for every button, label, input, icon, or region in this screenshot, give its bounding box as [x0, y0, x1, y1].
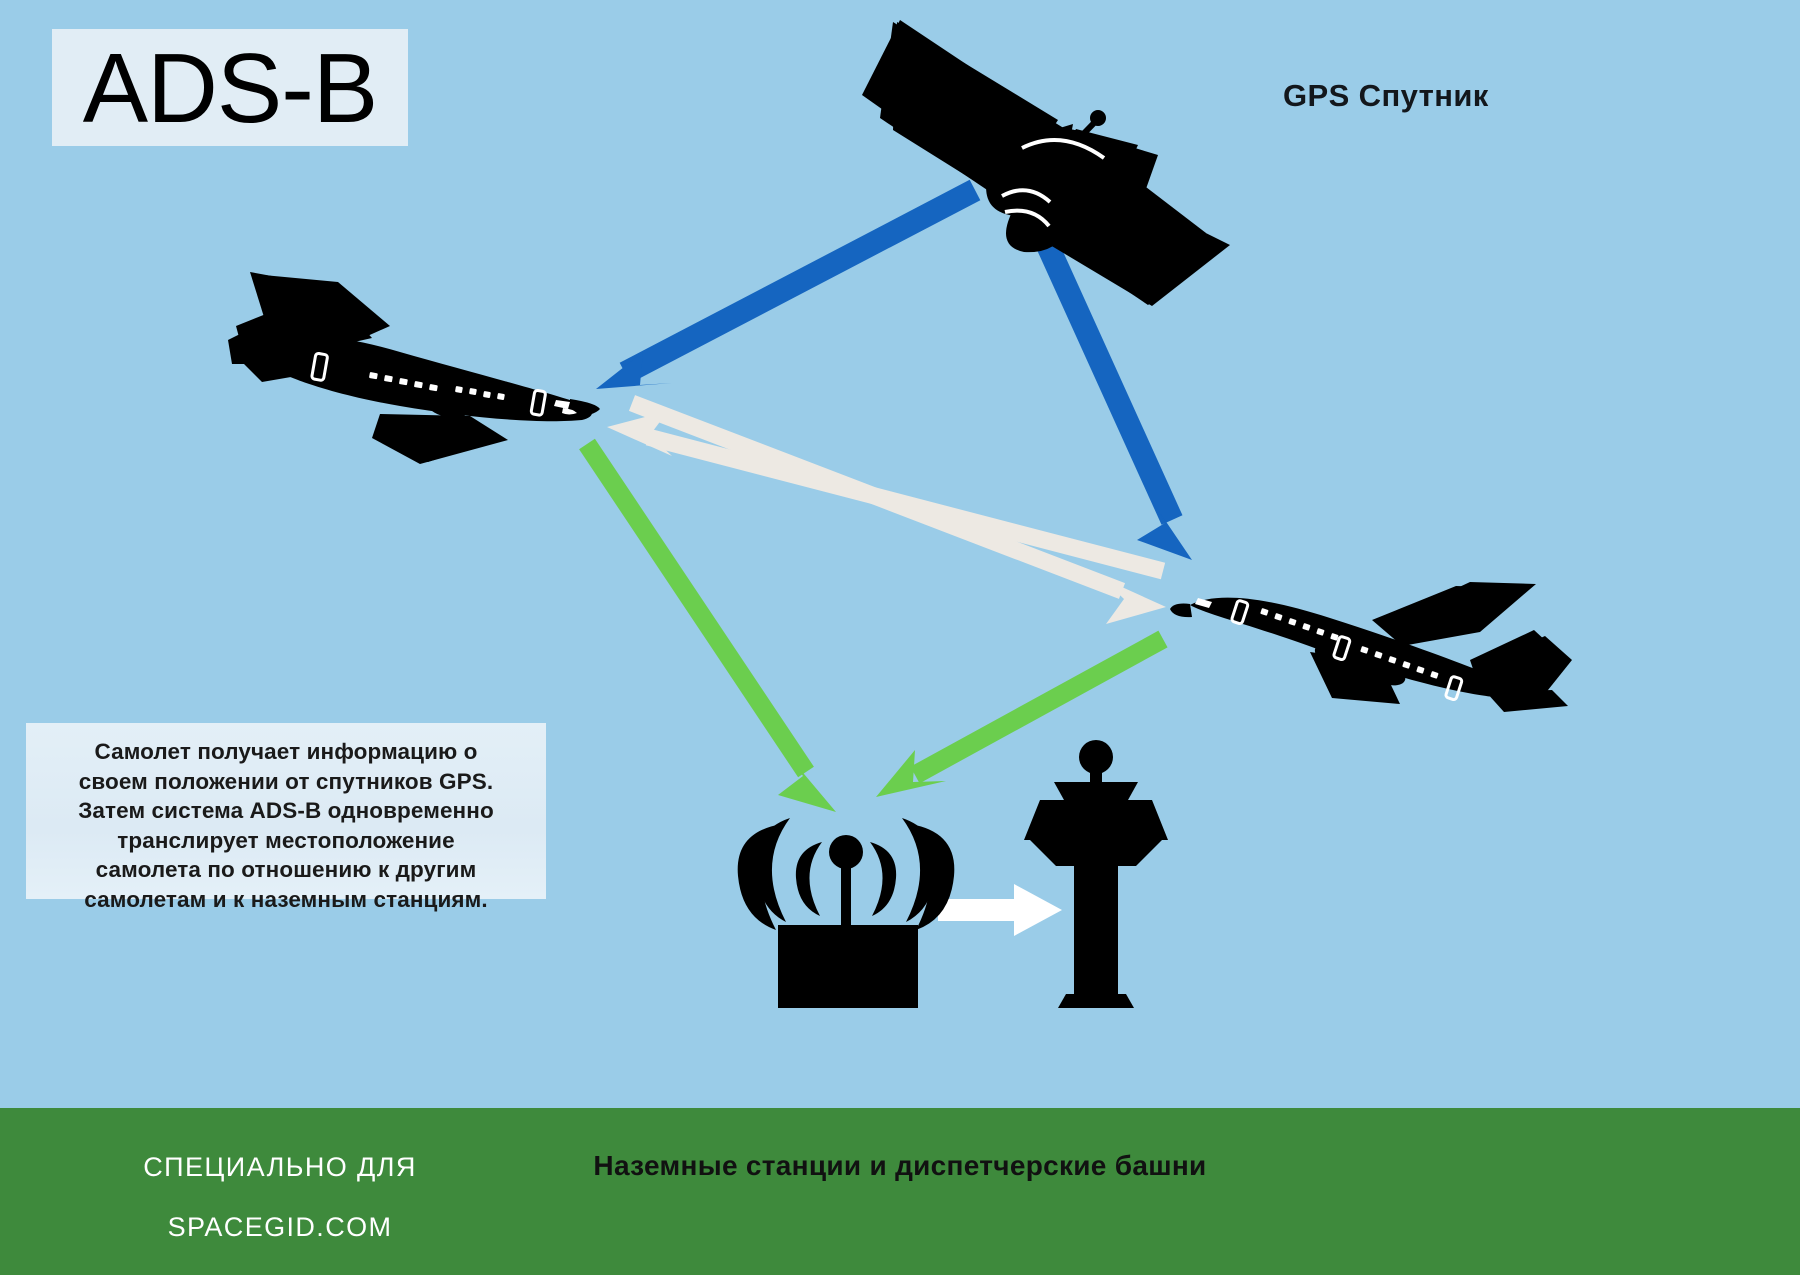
- arrow-aircraft-right-to-ground: [876, 639, 1163, 797]
- arrow-ground-station-to-tower: [938, 884, 1062, 936]
- gps-satellite-label: GPS Спутник: [1283, 78, 1489, 114]
- title-badge: ADS-B: [52, 29, 408, 146]
- aircraft-right-icon: [1170, 582, 1572, 712]
- description-line-1: Самолет получает информацию о: [36, 737, 536, 767]
- page-title: ADS-B: [83, 39, 378, 137]
- control-tower-icon: [1024, 740, 1168, 1008]
- arrow-satellite-to-aircraft-left: [596, 190, 975, 389]
- description-line-4: транслирует местоположение: [36, 826, 536, 856]
- infographic-canvas: ADS-B GPS Спутник Самолет получает инфор…: [0, 0, 1800, 1275]
- arrow-aircraft-left-to-right: [632, 403, 1166, 624]
- arrow-aircraft-left-to-ground: [587, 444, 836, 812]
- credit-line-2: SPACEGID.COM: [0, 1212, 560, 1243]
- ground-station-icon: [738, 818, 955, 1008]
- description-line-3: Затем система ADS-B одновременно: [36, 796, 536, 826]
- description-line-5: самолета по отношению к другим: [36, 855, 536, 885]
- description-box: Самолет получает информацию о своем поло…: [26, 723, 546, 899]
- description-line-2: своем положении от спутников GPS.: [36, 767, 536, 797]
- credit-line-1: СПЕЦИАЛЬНО ДЛЯ: [0, 1152, 560, 1183]
- diagram-artwork: [0, 0, 1800, 1275]
- aircraft-left-icon: [228, 272, 600, 464]
- description-line-6: самолетам и к наземным станциям.: [36, 885, 536, 915]
